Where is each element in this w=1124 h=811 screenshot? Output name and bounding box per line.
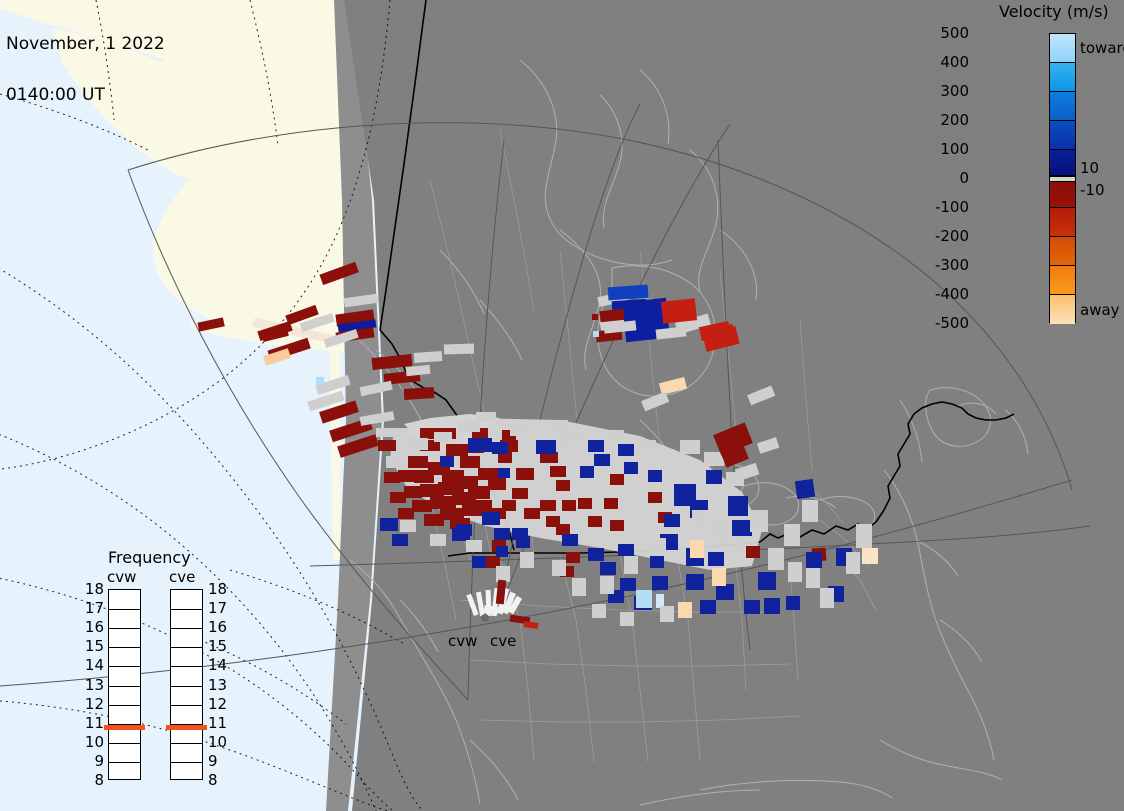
colorbar-segment [1050,295,1075,324]
colorbar-gs-upper-label: 10 [1080,159,1099,177]
frequency-tick-label-cvw: 17 [78,599,104,617]
frequency-column-label-cvw: cvw [107,568,136,586]
frequency-gridline [109,666,140,667]
colorbar-tick-label: -300 [909,256,969,274]
colorbar-tick-label: 200 [909,111,969,129]
frequency-tick-label-cve: 9 [208,752,234,770]
superdarn-map-view: November, 1 2022 0140:00 UT Velocity (m/… [0,0,1124,811]
colorbar-segment [1050,92,1075,121]
colorbar-segment [1050,150,1075,176]
timestamp-block: November, 1 2022 0140:00 UT [6,2,165,138]
frequency-gridline [171,628,202,629]
frequency-gridline [109,647,140,648]
colorbar-gs-lower-label: -10 [1080,181,1105,199]
frequency-tick-label-cve: 12 [208,695,234,713]
colorbar-segment [1050,63,1075,92]
colorbar-tick-label: -200 [909,227,969,245]
frequency-tick-label-cve: 8 [208,771,234,789]
frequency-gridline [171,666,202,667]
colorbar-toward-label: toward [1080,39,1124,57]
colorbar-tick-label: -100 [909,198,969,216]
colorbar-tick-label: 300 [909,82,969,100]
site-label-cve: cve [490,632,516,650]
frequency-gridline [109,762,140,763]
frequency-gridline [109,628,140,629]
colorbar-away-label: away [1080,301,1120,319]
frequency-gridline [171,686,202,687]
frequency-tick-label-cve: 11 [208,714,234,732]
frequency-legend-title: Frequency [108,548,191,567]
colorbar-segment [1050,208,1075,237]
colorbar-segment [1050,34,1075,63]
frequency-gridline [171,609,202,610]
frequency-gridline [109,743,140,744]
frequency-column-label-cve: cve [169,568,195,586]
frequency-gridline [171,762,202,763]
frequency-bar-cve [170,589,203,780]
timestamp-time: 0140:00 UT [6,87,165,104]
frequency-gridline [171,743,202,744]
colorbar-segment [1050,237,1075,266]
frequency-marker-cvw [104,725,145,730]
frequency-gridline [171,647,202,648]
colorbar-segment [1050,266,1075,295]
frequency-tick-label-cvw: 16 [78,618,104,636]
colorbar-tick-label: 0 [909,169,969,187]
frequency-tick-label-cve: 17 [208,599,234,617]
frequency-tick-label-cvw: 8 [78,771,104,789]
frequency-legend-panel: Frequency cvwcve181817171616151514141313… [95,548,235,780]
colorbar-tick-label: -500 [909,314,969,332]
radar-site-marker [481,614,489,622]
frequency-tick-label-cvw: 13 [78,676,104,694]
site-label-cvw: cvw [448,632,477,650]
frequency-tick-label-cve: 10 [208,733,234,751]
velocity-colorbar-panel: Velocity (m/s) 5004003002001000-100-200-… [985,0,1124,340]
colorbar-tick-label: -400 [909,285,969,303]
colorbar-tick-label: 400 [909,53,969,71]
colorbar-segment [1050,121,1075,150]
colorbar-tick-label: 500 [909,24,969,42]
frequency-tick-label-cve: 16 [208,618,234,636]
frequency-tick-label-cvw: 14 [78,656,104,674]
frequency-tick-label-cvw: 10 [78,733,104,751]
frequency-tick-label-cve: 14 [208,656,234,674]
frequency-tick-label-cve: 18 [208,580,234,598]
frequency-tick-label-cvw: 15 [78,637,104,655]
frequency-gridline [109,705,140,706]
frequency-tick-label-cve: 13 [208,676,234,694]
frequency-bar-cvw [108,589,141,780]
colorbar-tick-label: 100 [909,140,969,158]
frequency-marker-cve [166,725,207,730]
colorbar-tick-labels: 5004003002001000-100-200-300-400-500 [985,0,1045,340]
colorbar-gradient-bar [1049,33,1076,323]
frequency-tick-label-cvw: 12 [78,695,104,713]
frequency-gridline [109,609,140,610]
colorbar-segment [1050,182,1075,208]
frequency-gridline [171,705,202,706]
frequency-tick-label-cvw: 18 [78,580,104,598]
frequency-tick-label-cvw: 9 [78,752,104,770]
frequency-gridline [109,686,140,687]
frequency-tick-label-cve: 15 [208,637,234,655]
timestamp-date: November, 1 2022 [6,36,165,53]
frequency-tick-label-cvw: 11 [78,714,104,732]
